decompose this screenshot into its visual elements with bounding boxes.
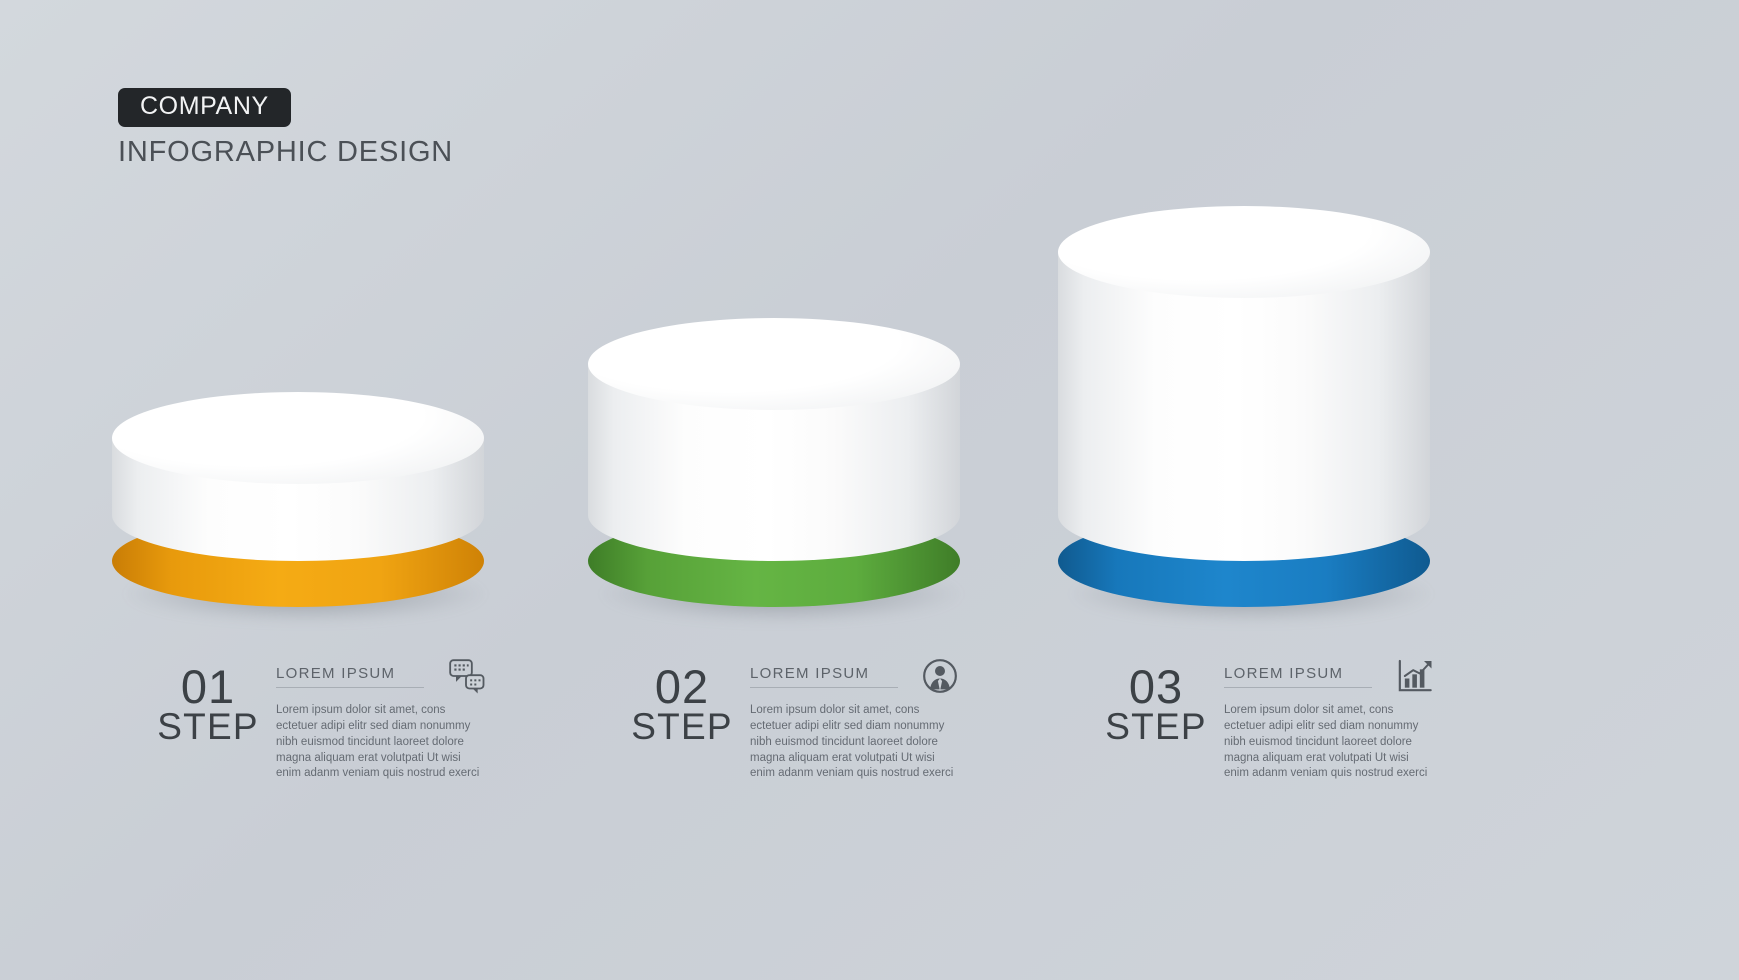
step-number-word: STEP <box>622 710 742 744</box>
cylinder-step-01 <box>112 392 484 607</box>
step-number-01: 01 STEP <box>148 665 268 744</box>
step-title: LOREM IPSUM <box>1224 665 1372 688</box>
step-head: LOREM IPSUM <box>750 665 960 696</box>
step-number-value: 01 <box>148 665 268 708</box>
step-head: LOREM IPSUM <box>276 665 486 696</box>
step-block-02: 02 STEP LOREM IPSUM Lorem ipsum dolor si… <box>622 665 960 782</box>
step-text-01: LOREM IPSUM Lorem ipsum dolo <box>276 665 486 782</box>
step-block-03: 03 STEP LOREM IPSUM Lorem ipsum dolor si… <box>1096 665 1434 782</box>
cylinder-top <box>1058 206 1430 298</box>
growth-chart-icon <box>1394 656 1434 696</box>
step-number-word: STEP <box>1096 710 1216 744</box>
step-body-text: Lorem ipsum dolor sit amet, cons ectetue… <box>750 703 958 782</box>
step-body-text: Lorem ipsum dolor sit amet, cons ectetue… <box>276 703 484 782</box>
cylinder-body <box>1058 252 1430 561</box>
step-number-02: 02 STEP <box>622 665 742 744</box>
step-text-03: LOREM IPSUM Lorem ipsum dolor sit amet, … <box>1224 665 1434 782</box>
cylinder-stage <box>0 0 1739 980</box>
step-block-01: 01 STEP LOREM IPSUM <box>148 665 486 782</box>
cylinder-top <box>588 318 960 410</box>
step-title: LOREM IPSUM <box>750 665 898 688</box>
step-head: LOREM IPSUM <box>1224 665 1434 696</box>
user-profile-icon <box>920 656 960 696</box>
cylinder-wall <box>1058 252 1430 561</box>
cylinder-step-03 <box>1058 206 1430 607</box>
cylinder-top <box>112 392 484 484</box>
step-number-03: 03 STEP <box>1096 665 1216 744</box>
chat-bubbles-icon <box>446 656 486 696</box>
step-text-02: LOREM IPSUM Lorem ipsum dolor sit amet, … <box>750 665 960 782</box>
cylinder-step-02 <box>588 318 960 607</box>
step-title: LOREM IPSUM <box>276 665 424 688</box>
step-number-value: 03 <box>1096 665 1216 708</box>
step-number-word: STEP <box>148 710 268 744</box>
step-body-text: Lorem ipsum dolor sit amet, cons ectetue… <box>1224 703 1432 782</box>
step-number-value: 02 <box>622 665 742 708</box>
